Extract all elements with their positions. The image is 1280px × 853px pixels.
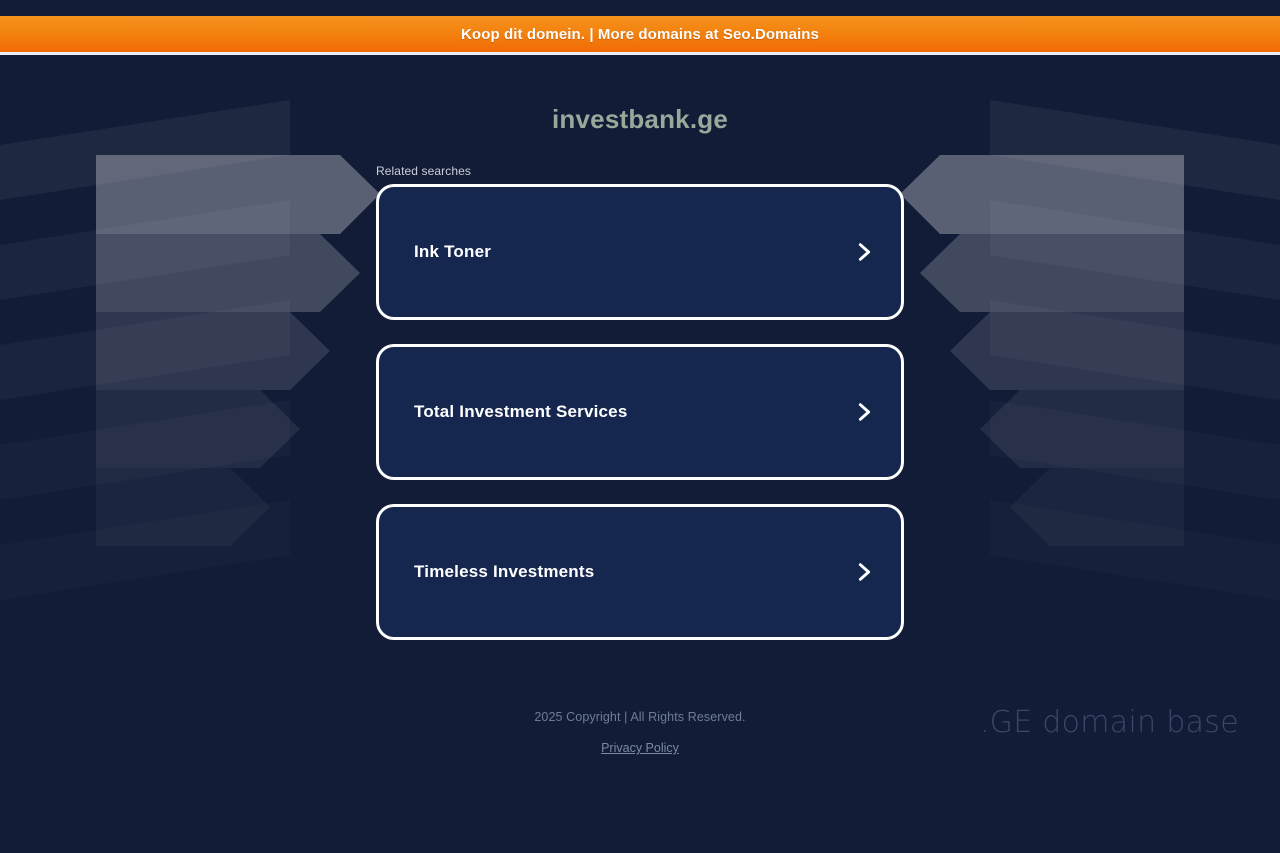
- page-content: investbank.ge Related searches Ink Toner…: [0, 55, 1280, 853]
- chevron-right-icon: [853, 401, 875, 423]
- related-search-label: Timeless Investments: [414, 562, 594, 582]
- page-title: investbank.ge: [0, 104, 1280, 135]
- promo-banner[interactable]: Koop dit domein. | More domains at Seo.D…: [0, 16, 1280, 52]
- related-search-label: Ink Toner: [414, 242, 491, 262]
- chevron-right-icon: [853, 561, 875, 583]
- related-search-card[interactable]: Timeless Investments: [376, 504, 904, 640]
- related-search-card[interactable]: Total Investment Services: [376, 344, 904, 480]
- ge-domain-base-watermark: .GE domain base: [980, 705, 1239, 740]
- promo-banner-text: Koop dit domein. | More domains at Seo.D…: [461, 26, 819, 43]
- related-searches-label: Related searches: [376, 164, 471, 178]
- related-search-card[interactable]: Ink Toner: [376, 184, 904, 320]
- related-search-label: Total Investment Services: [414, 402, 628, 422]
- top-strip: [0, 0, 1280, 16]
- related-searches-list: Ink Toner Total Investment Services Time…: [376, 184, 904, 640]
- banner-underline-divider: [0, 52, 1280, 55]
- chevron-right-icon: [853, 241, 875, 263]
- privacy-policy-link[interactable]: Privacy Policy: [601, 741, 679, 755]
